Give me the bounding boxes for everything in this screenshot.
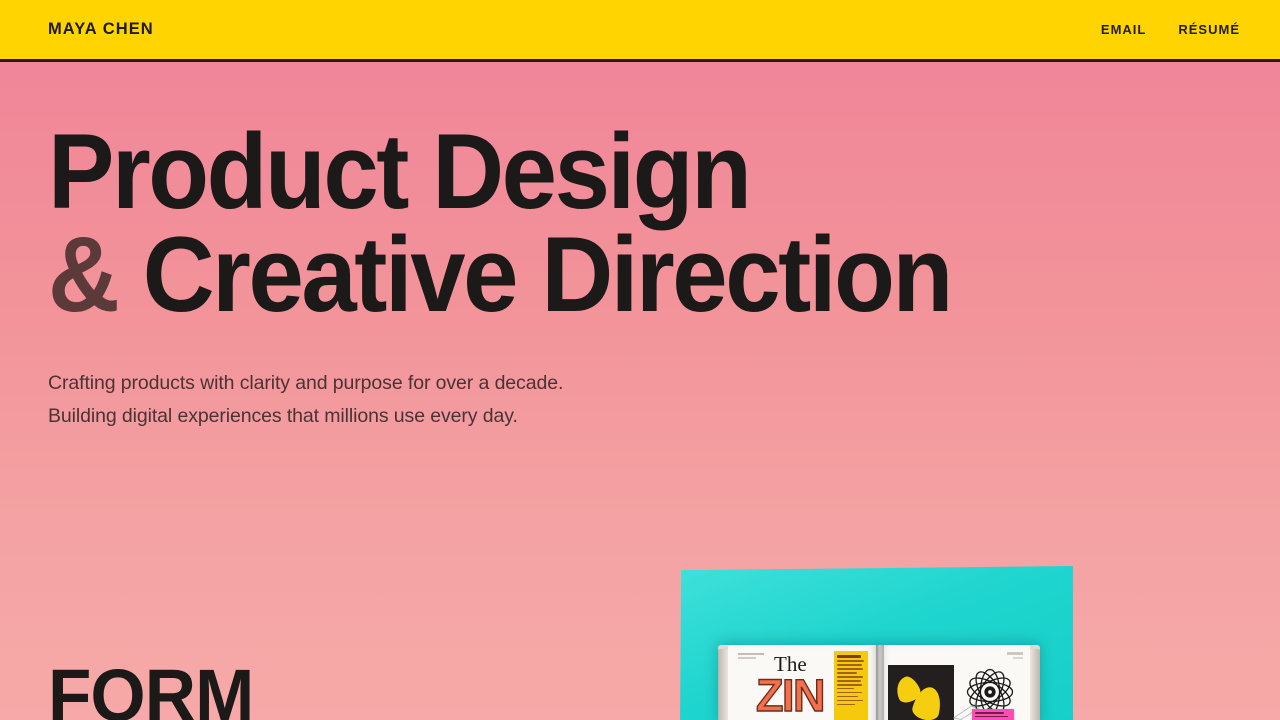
sidebar-text-rule — [837, 688, 854, 690]
magazine-dark-panel — [888, 665, 954, 720]
section-heading-form: FORM — [48, 664, 253, 720]
hero-section: Product Design & Creative Direction Craf… — [0, 62, 1280, 432]
sidebar-text-rule — [837, 696, 858, 698]
showcase-image[interactable]: The ZIN — [680, 566, 1073, 720]
brand-logo[interactable]: MAYA CHEN — [48, 21, 154, 38]
hero-title-line-2-text: Creative Direction — [143, 214, 951, 334]
hero-subtitle-line-1: Crafting products with clarity and purpo… — [48, 367, 1280, 399]
magazine-gutter — [876, 645, 884, 720]
nav-link-resume[interactable]: RÉSUMÉ — [1178, 22, 1240, 37]
left-page-kicker-rule-2 — [738, 657, 756, 659]
magazine-right-page — [880, 645, 1030, 720]
magazine-right-edge — [1029, 649, 1040, 720]
page-title: Product Design & Creative Direction — [48, 120, 1194, 325]
sticky-note-text-rule — [975, 716, 1008, 718]
sidebar-text-rule — [837, 704, 855, 706]
sidebar-text-rule — [837, 660, 864, 662]
pink-sticky-note — [972, 709, 1014, 720]
right-page-folio-rule-2 — [1013, 657, 1023, 659]
left-page-kicker-rule — [738, 653, 764, 655]
magazine-left-page: The ZIN — [728, 645, 878, 720]
sidebar-text-rule — [837, 680, 861, 682]
magazine-yellow-sidebar — [834, 651, 868, 720]
landing-page: MAYA CHEN EMAIL RÉSUMÉ Product Design & … — [0, 0, 1280, 720]
magazine-title-zin: ZIN — [756, 673, 824, 718]
hero-subtitle-line-2: Building digital experiences that millio… — [48, 400, 1280, 432]
sidebar-heading-rule — [837, 655, 861, 658]
open-magazine: The ZIN — [718, 645, 1040, 720]
nav-link-email[interactable]: EMAIL — [1101, 22, 1146, 37]
hero-ampersand: & — [48, 214, 117, 334]
primary-nav: EMAIL RÉSUMÉ — [1101, 22, 1240, 37]
sidebar-text-rule — [837, 684, 862, 686]
sidebar-text-rule — [837, 668, 863, 670]
sticky-note-text-rule — [975, 712, 1004, 714]
sidebar-text-rule — [837, 676, 863, 678]
hero-title-line-1: Product Design — [48, 120, 1194, 223]
site-header: MAYA CHEN EMAIL RÉSUMÉ — [0, 0, 1280, 62]
sidebar-text-rule — [837, 700, 863, 702]
right-page-folio-rule — [1007, 652, 1023, 655]
hero-title-line-2: & Creative Direction — [48, 223, 1194, 326]
sidebar-text-rule — [837, 664, 862, 666]
sidebar-text-rule — [837, 672, 857, 674]
hero-subtitle: Crafting products with clarity and purpo… — [48, 367, 1280, 432]
sidebar-text-rule — [837, 692, 862, 694]
